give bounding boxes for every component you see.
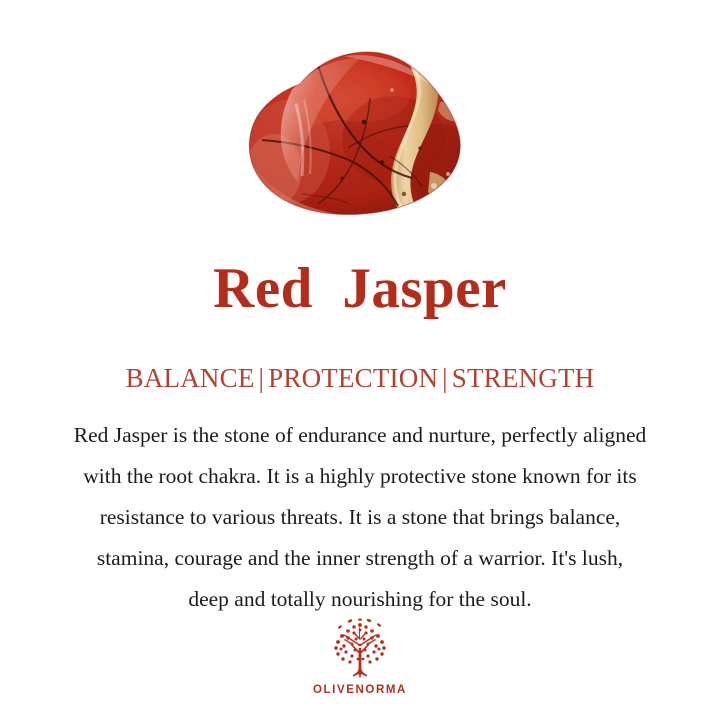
keyword-line: BALANCE|PROTECTION|STRENGTH bbox=[0, 362, 720, 394]
description-line-2: with the root chakra. It is a highly pro… bbox=[8, 456, 712, 497]
brand-logo: OLIVENORMA bbox=[0, 618, 720, 696]
description-line-5: deep and totally nourishing for the soul… bbox=[8, 579, 712, 620]
page-title: Red Jasper bbox=[0, 258, 720, 320]
brand-wordmark: OLIVENORMA bbox=[313, 684, 407, 696]
red-jasper-stone-image bbox=[244, 44, 476, 220]
keyword-protection: PROTECTION bbox=[268, 363, 438, 393]
product-image-container bbox=[0, 0, 720, 245]
description-line-4: stamina, courage and the inner strength … bbox=[8, 538, 712, 579]
keyword-separator-1: | bbox=[255, 363, 269, 393]
keyword-separator-2: | bbox=[438, 363, 452, 393]
description-line-1: Red Jasper is the stone of endurance and… bbox=[8, 415, 712, 456]
description-paragraph: Red Jasper is the stone of endurance and… bbox=[8, 415, 712, 620]
tree-of-life-icon bbox=[324, 618, 396, 682]
red-jasper-info-card: Red Jasper BALANCE|PROTECTION|STRENGTH R… bbox=[0, 0, 720, 720]
description-line-3: resistance to various threats. It is a s… bbox=[8, 497, 712, 538]
keyword-strength: STRENGTH bbox=[452, 363, 595, 393]
keyword-balance: BALANCE bbox=[126, 363, 255, 393]
